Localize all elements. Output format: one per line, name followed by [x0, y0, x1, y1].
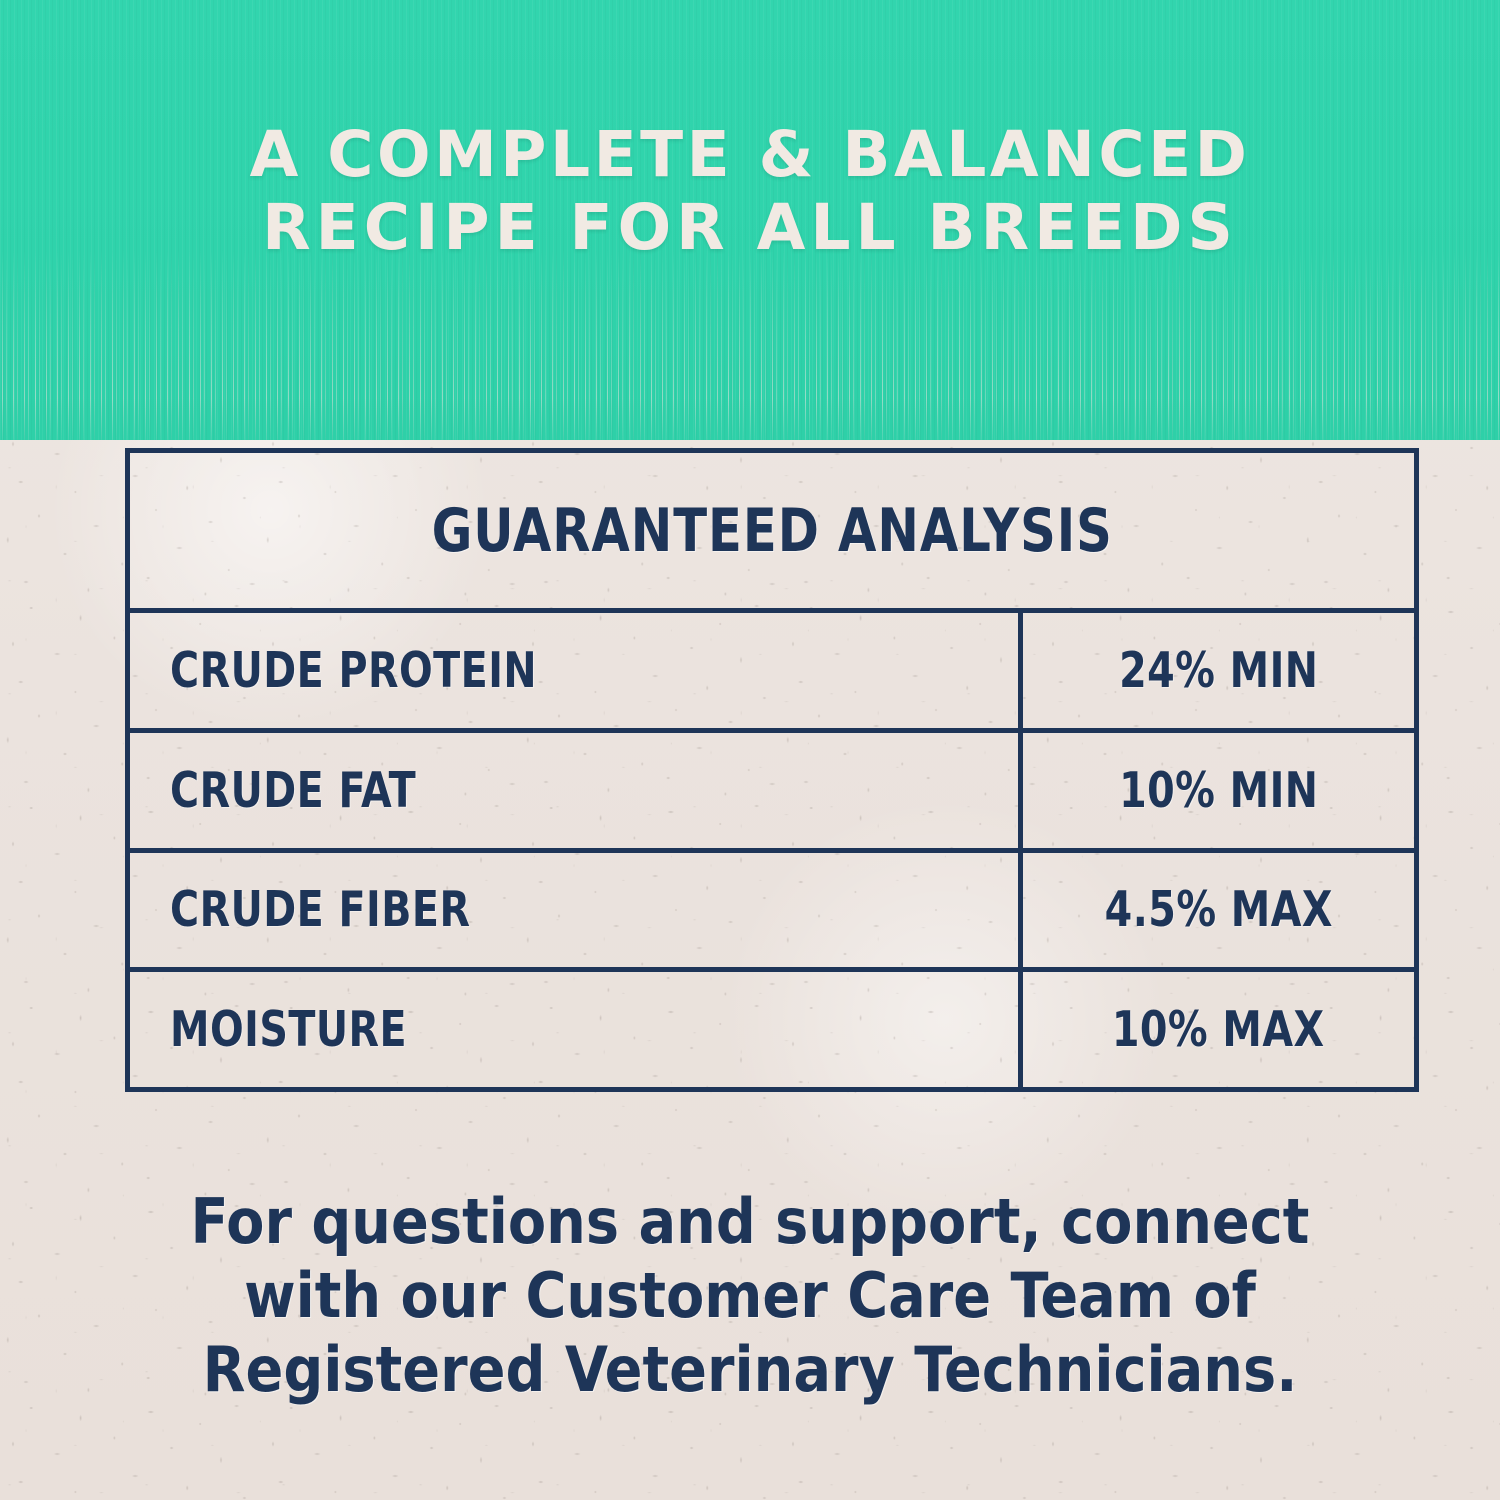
nutrient-value-text: 24% MIN [1119, 642, 1318, 699]
nutrient-value-cell: 24% MIN [1023, 613, 1414, 728]
table-row: CRUDE FAT 10% MIN [130, 733, 1414, 853]
nutrient-name-cell: CRUDE FAT [130, 733, 1023, 848]
nutrient-name-text: MOISTURE [170, 1001, 407, 1058]
customer-care-line-1: For questions and support, connect [0, 1185, 1500, 1259]
guaranteed-analysis-title: GUARANTEED ANALYSIS [431, 496, 1112, 566]
page-title: A COMPLETE & BALANCED RECIPE FOR ALL BRE… [0, 118, 1500, 264]
page-title-line-2: RECIPE FOR ALL BREEDS [0, 191, 1500, 264]
nutrient-name-text: CRUDE FIBER [170, 881, 470, 938]
product-info-panel: A COMPLETE & BALANCED RECIPE FOR ALL BRE… [0, 0, 1500, 1500]
nutrient-value-text: 10% MAX [1112, 1001, 1325, 1058]
nutrient-value-cell: 10% MAX [1023, 972, 1414, 1087]
guaranteed-analysis-title-row: GUARANTEED ANALYSIS [130, 453, 1414, 613]
nutrient-value-text: 10% MIN [1119, 762, 1318, 819]
guaranteed-analysis-table: GUARANTEED ANALYSIS CRUDE PROTEIN 24% MI… [125, 448, 1419, 1092]
nutrient-name-text: CRUDE FAT [170, 762, 416, 819]
nutrient-name-cell: CRUDE FIBER [130, 853, 1023, 968]
guaranteed-analysis-rows: CRUDE PROTEIN 24% MIN CRUDE FAT 10% MIN … [130, 613, 1414, 1087]
table-row: CRUDE FIBER 4.5% MAX [130, 853, 1414, 973]
table-row: MOISTURE 10% MAX [130, 972, 1414, 1087]
customer-care-message: For questions and support, connect with … [0, 1185, 1500, 1407]
nutrient-value-cell: 4.5% MAX [1023, 853, 1414, 968]
nutrient-value-text: 4.5% MAX [1104, 881, 1332, 938]
nutrient-name-text: CRUDE PROTEIN [170, 642, 537, 699]
nutrient-name-cell: CRUDE PROTEIN [130, 613, 1023, 728]
nutrient-value-cell: 10% MIN [1023, 733, 1414, 848]
nutrient-name-cell: MOISTURE [130, 972, 1023, 1087]
page-title-line-1: A COMPLETE & BALANCED [0, 118, 1500, 191]
table-row: CRUDE PROTEIN 24% MIN [130, 613, 1414, 733]
customer-care-line-2: with our Customer Care Team of [0, 1259, 1500, 1333]
customer-care-line-3: Registered Veterinary Technicians. [0, 1333, 1500, 1407]
